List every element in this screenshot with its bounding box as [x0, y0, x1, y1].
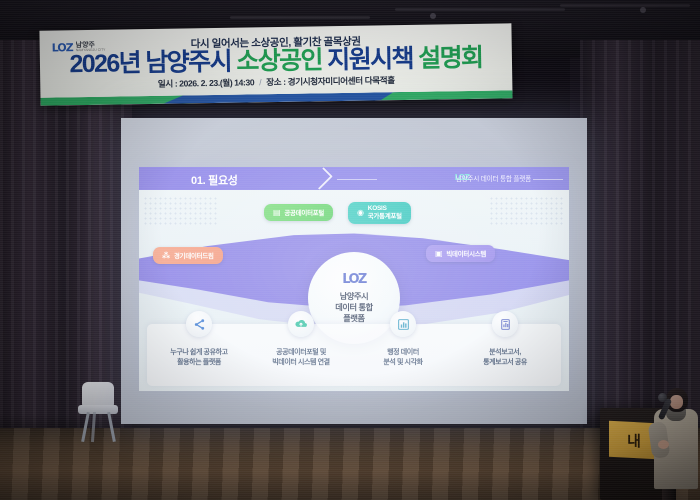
benefit-line-2: 활용하는 플랫폼 [147, 358, 251, 368]
chair-leg [81, 412, 89, 442]
ceiling-rail [560, 4, 690, 7]
core-line-3: 플랫폼 [335, 313, 373, 324]
chair [78, 382, 118, 444]
chip-bigdata-system: ▣ 빅데이터시스템 [426, 245, 495, 262]
plaque-logo-mark: 내 [627, 429, 639, 451]
chair-backrest [82, 382, 114, 407]
bar-chart-icon [390, 311, 416, 337]
share-icon [186, 311, 212, 337]
chair-seat [78, 405, 118, 414]
banner-title-part1: 2026년 남양주시 [69, 48, 231, 79]
benefit-line-2: 분석 및 시각화 [351, 358, 455, 368]
banner-place-label: 장소 [266, 77, 281, 87]
banner-place-value: 경기시청자미디어센터 다목적홀 [288, 75, 395, 87]
chip-label: 공공데이터포털 [284, 208, 324, 217]
location-pin-icon: ◉ [357, 209, 364, 217]
ceiling-rail [230, 16, 370, 19]
chip-label: 경기데이터드림 [174, 251, 214, 260]
chevron-right-icon [310, 167, 333, 190]
slide-section-number: 01. [191, 175, 205, 187]
projection-screen: 01. 필요성 LOZ 남양주시 데이터 통합 플랫폼 ▤ 공공데이터포털 [121, 118, 587, 424]
banner-title-part2: 소상공인 [236, 46, 322, 75]
decorative-dot-grid-right [489, 196, 565, 226]
chair-leg [91, 412, 96, 442]
speaker-face [670, 395, 683, 409]
slide-header-bar: 01. 필요성 LOZ 남양주시 데이터 통합 플랫폼 [139, 167, 569, 190]
chip-gyeonggi-data-dream: ⁂ 경기데이터드림 [153, 247, 223, 264]
core-title: 남양주시 데이터 통합 플랫폼 [335, 291, 373, 324]
benefit-line-2: 빅데이터 시스템 연결 [249, 358, 353, 368]
banner-info-separator: / [259, 77, 261, 87]
core-logo-mark: LOZ [342, 272, 366, 287]
benefit-text: 공공데이터포털 및 빅데이터 시스템 연결 [249, 348, 353, 368]
slide-section-label: 01. 필요성 [191, 172, 238, 188]
report-document-icon [492, 311, 518, 337]
ceiling-light [640, 7, 646, 13]
benefit-line-1: 분석보고서, [453, 348, 557, 358]
ceiling-light [430, 13, 436, 19]
slide-body: ▤ 공공데이터포털 ◉ KOSIS 국가통계포털 ⁂ 경기데이터드림 ▣ [139, 190, 569, 391]
chip-label-top: KOSIS [368, 205, 402, 213]
slide-section-title: 필요성 [208, 175, 237, 187]
chart-flag-icon: ▣ [435, 250, 442, 258]
header-rule-left [337, 179, 377, 180]
event-banner: LOZ 남양주 NAMYANGJU CITY 다시 일어서는 소상공인, 활기찬… [39, 23, 512, 105]
benefit-text: 누구나 쉽게 공유하고 활용하는 플랫폼 [147, 348, 251, 368]
chip-label: 빅데이터시스템 [446, 249, 486, 258]
banner-title-part4: 설명회 [418, 44, 483, 73]
benefit-text: 분석보고서, 통계보고서 공유 [453, 348, 557, 368]
decorative-dot-grid-left [143, 196, 219, 226]
chair-leg [107, 412, 115, 442]
benefit-line-1: 누구나 쉽게 공유하고 [147, 348, 251, 358]
platform-brand-text: 남양주시 데이터 통합 플랫폼 [456, 173, 531, 183]
projected-slide: 01. 필요성 LOZ 남양주시 데이터 통합 플랫폼 ▤ 공공데이터포털 [139, 167, 569, 391]
banner-date-value: 2026. 2. 23.(월) 14:30 [179, 77, 254, 88]
ceiling-rail [395, 8, 565, 11]
benefit-text: 행정 데이터 분석 및 시각화 [351, 348, 455, 368]
benefit-line-2: 통계보고서 공유 [453, 358, 557, 368]
core-line-2: 데이터 통합 [335, 302, 373, 313]
core-line-1: 남양주시 [335, 291, 373, 302]
microphone-head-icon [658, 393, 667, 402]
cloud-upload-icon [288, 311, 314, 337]
benefit-item-share: 누구나 쉽게 공유하고 활용하는 플랫폼 [147, 324, 251, 386]
speaker-hand [658, 440, 669, 449]
header-rule-right [533, 179, 563, 180]
benefit-line-1: 행정 데이터 [351, 348, 455, 358]
chip-kosis: ◉ KOSIS 국가통계포털 [348, 202, 411, 224]
banner-date-label: 일시 [158, 79, 173, 89]
benefits-panel: 누구나 쉽게 공유하고 활용하는 플랫폼 공공데이터포털 및 [147, 324, 561, 386]
speaker-person [648, 388, 700, 500]
stage-curtain-right [580, 40, 700, 440]
banner-title-part3: 지원시책 [327, 45, 413, 74]
database-icon: ▤ [273, 209, 280, 217]
chip-label-bottom: 국가통계포털 [368, 213, 402, 221]
benefit-item-report: 분석보고서, 통계보고서 공유 [453, 324, 557, 386]
benefit-line-1: 공공데이터포털 및 [249, 348, 353, 358]
benefit-item-cloud: 공공데이터포털 및 빅데이터 시스템 연결 [249, 324, 353, 386]
chip-public-data-portal: ▤ 공공데이터포털 [264, 204, 333, 221]
share-nodes-icon: ⁂ [162, 252, 170, 260]
benefit-item-chart: 행정 데이터 분석 및 시각화 [351, 324, 455, 386]
screenshot-root: LOZ 남양주 NAMYANGJU CITY 다시 일어서는 소상공인, 활기찬… [0, 0, 700, 500]
